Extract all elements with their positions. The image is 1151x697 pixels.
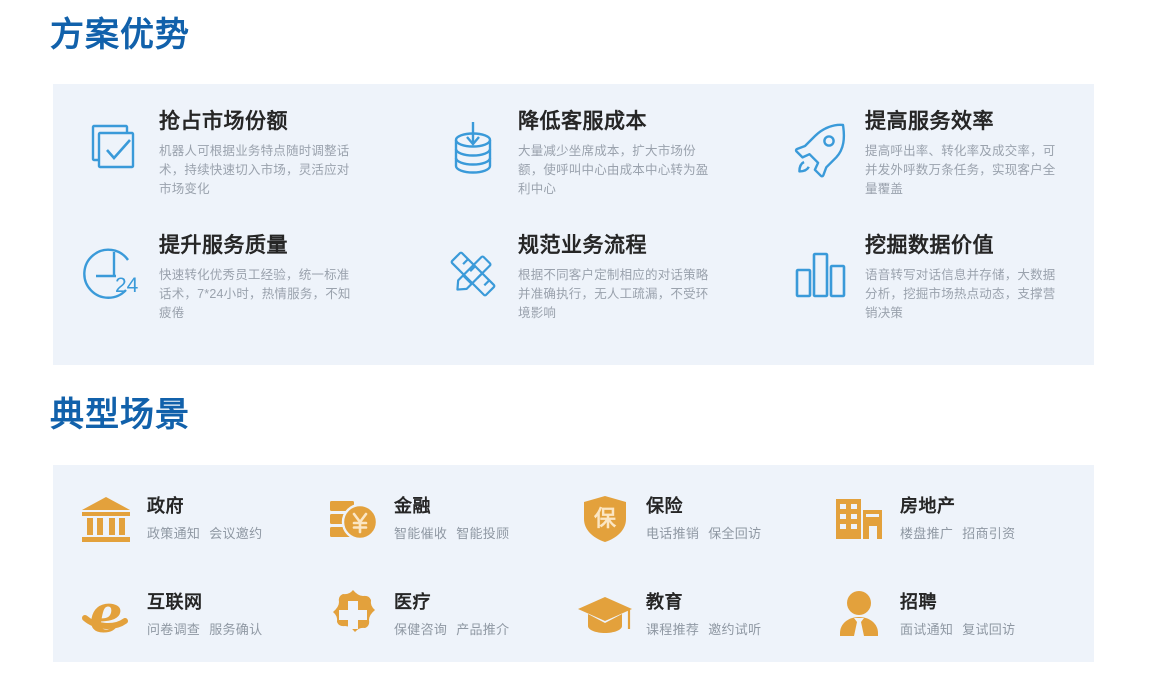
scenario-tag: 电话推销 (646, 526, 699, 541)
money-yen-icon (325, 491, 381, 547)
bank-icon (78, 491, 134, 547)
scenario-item-insurance[interactable]: 保 保险 电话推销保全回访 (577, 491, 761, 547)
scenario-title: 教育 (646, 592, 761, 614)
scenario-tags: 课程推荐邀约试听 (646, 619, 761, 638)
scenario-title: 互联网 (147, 592, 262, 614)
advantage-title: 降低客服成本 (518, 109, 718, 135)
scenario-text: 医疗 保健咨询产品推介 (394, 592, 509, 639)
scenario-tag: 招商引资 (962, 526, 1015, 541)
scenario-item-internet[interactable]: e 互联网 问卷调查服务确认 (78, 587, 262, 643)
scenarios-panel: 政府 政策通知会议邀约 (53, 465, 1094, 662)
medical-cross-icon (325, 587, 381, 643)
scenario-title: 房地产 (900, 496, 1015, 518)
scenario-tags: 楼盘推广招商引资 (900, 523, 1015, 542)
advantage-title: 挖掘数据价值 (865, 233, 1065, 259)
scenario-tags: 智能催收智能投顾 (394, 523, 509, 542)
scenario-tag: 产品推介 (456, 622, 509, 637)
scenario-item-recruitment[interactable]: 招聘 面试通知复试回访 (831, 587, 1015, 643)
clock-24-icon: 24 (77, 237, 151, 311)
internet-e-glyph: e (89, 588, 122, 642)
advantage-card: 提高服务效率 提高呼出率、转化率及成交率，可并发外呼数万条任务，实现客户全量覆盖 (783, 107, 1065, 199)
scenario-tags: 问卷调查服务确认 (147, 619, 262, 638)
scenario-tags: 电话推销保全回访 (646, 523, 761, 542)
advantage-text: 提升服务质量 快速转化优秀员工经验，统一标准话术，7*24小时，热情服务，不知疲… (159, 231, 359, 323)
scenario-tag: 复试回访 (962, 622, 1015, 637)
scenario-tag: 面试通知 (900, 622, 953, 637)
scenario-text: 保险 电话推销保全回访 (646, 496, 761, 543)
rocket-icon (783, 113, 857, 187)
scenario-item-education[interactable]: 教育 课程推荐邀约试听 (577, 587, 761, 643)
scenario-tag: 问卷调查 (147, 622, 200, 637)
buildings-icon (831, 491, 887, 547)
scenario-tag: 保健咨询 (394, 622, 447, 637)
scenario-tags: 面试通知复试回访 (900, 619, 1015, 638)
advantage-card: 抢占市场份额 机器人可根据业务特点随时调整话术，持续快速切入市场，灵活应对市场变… (77, 107, 359, 199)
advantage-card: 挖掘数据价值 语音转写对话信息并存储，大数据分析，挖掘市场热点动态，支撑营销决策 (783, 231, 1065, 323)
scenario-tag: 智能催收 (394, 526, 447, 541)
page-title-advantages: 方案优势 (50, 18, 190, 52)
scenario-tag: 课程推荐 (646, 622, 699, 637)
graduation-cap-icon (577, 587, 633, 643)
shield-bao-icon: 保 (577, 491, 633, 547)
scenario-title: 金融 (394, 496, 509, 518)
page-root: 方案优势 抢占市场份额 机器人可根据业务特点随时调整话术，持续快速切入市场，灵活… (0, 0, 1151, 697)
advantage-text: 抢占市场份额 机器人可根据业务特点随时调整话术，持续快速切入市场，灵活应对市场变… (159, 107, 359, 199)
scenario-text: 政府 政策通知会议邀约 (147, 496, 262, 543)
advantage-desc: 提高呼出率、转化率及成交率，可并发外呼数万条任务，实现客户全量覆盖 (865, 142, 1065, 199)
advantage-desc: 快速转化优秀员工经验，统一标准话术，7*24小时，热情服务，不知疲倦 (159, 266, 359, 323)
advantage-text: 规范业务流程 根据不同客户定制相应的对话策略并准确执行，无人工疏漏，不受环境影响 (518, 231, 718, 323)
bar-chart-icon (783, 237, 857, 311)
scenario-tag: 政策通知 (147, 526, 200, 541)
internet-e-icon: e (78, 587, 134, 643)
scenario-title: 招聘 (900, 592, 1015, 614)
shield-char-label: 保 (593, 507, 617, 532)
advantage-desc: 机器人可根据业务特点随时调整话术，持续快速切入市场，灵活应对市场变化 (159, 142, 359, 199)
scenario-tags: 政策通知会议邀约 (147, 523, 262, 542)
advantage-desc: 语音转写对话信息并存储，大数据分析，挖掘市场热点动态，支撑营销决策 (865, 266, 1065, 323)
page-title-scenarios: 典型场景 (50, 398, 190, 432)
advantage-card: 降低客服成本 大量减少坐席成本，扩大市场份额，使呼叫中心由成本中心转为盈利中心 (436, 107, 718, 199)
scenario-item-medical[interactable]: 医疗 保健咨询产品推介 (325, 587, 509, 643)
advantage-text: 降低客服成本 大量减少坐席成本，扩大市场份额，使呼叫中心由成本中心转为盈利中心 (518, 107, 718, 199)
scenario-title: 保险 (646, 496, 761, 518)
scenario-text: 金融 智能催收智能投顾 (394, 496, 509, 543)
advantage-title: 规范业务流程 (518, 233, 718, 259)
scenario-tags: 保健咨询产品推介 (394, 619, 509, 638)
advantage-desc: 根据不同客户定制相应的对话策略并准确执行，无人工疏漏，不受环境影响 (518, 266, 718, 323)
advantage-card: 24 提升服务质量 快速转化优秀员工经验，统一标准话术，7*24小时，热情服务，… (77, 231, 359, 323)
scenario-text: 房地产 楼盘推广招商引资 (900, 496, 1015, 543)
advantage-text: 提高服务效率 提高呼出率、转化率及成交率，可并发外呼数万条任务，实现客户全量覆盖 (865, 107, 1065, 199)
scenario-tag: 服务确认 (209, 622, 262, 637)
scenario-item-finance[interactable]: 金融 智能催收智能投顾 (325, 491, 509, 547)
scenario-title: 政府 (147, 496, 262, 518)
scenario-tag: 邀约试听 (708, 622, 761, 637)
scenario-text: 互联网 问卷调查服务确认 (147, 592, 262, 639)
advantage-title: 提高服务效率 (865, 109, 1065, 135)
advantage-title: 抢占市场份额 (159, 109, 359, 135)
documents-check-icon (77, 113, 151, 187)
clock-24-label: 24 (115, 274, 139, 297)
scenario-item-government[interactable]: 政府 政策通知会议邀约 (78, 491, 262, 547)
advantage-desc: 大量减少坐席成本，扩大市场份额，使呼叫中心由成本中心转为盈利中心 (518, 142, 718, 199)
scenario-tag: 智能投顾 (456, 526, 509, 541)
scenario-text: 教育 课程推荐邀约试听 (646, 592, 761, 639)
scenario-tag: 楼盘推广 (900, 526, 953, 541)
scenario-text: 招聘 面试通知复试回访 (900, 592, 1015, 639)
ruler-pencil-icon (436, 237, 510, 311)
scenario-item-realestate[interactable]: 房地产 楼盘推广招商引资 (831, 491, 1015, 547)
advantages-panel: 抢占市场份额 机器人可根据业务特点随时调整话术，持续快速切入市场，灵活应对市场变… (53, 84, 1094, 365)
advantage-text: 挖掘数据价值 语音转写对话信息并存储，大数据分析，挖掘市场热点动态，支撑营销决策 (865, 231, 1065, 323)
advantage-card: 规范业务流程 根据不同客户定制相应的对话策略并准确执行，无人工疏漏，不受环境影响 (436, 231, 718, 323)
scenario-tag: 保全回访 (708, 526, 761, 541)
scenario-title: 医疗 (394, 592, 509, 614)
advantage-title: 提升服务质量 (159, 233, 359, 259)
database-down-arrow-icon (436, 113, 510, 187)
scenario-tag: 会议邀约 (209, 526, 262, 541)
person-tie-icon (831, 587, 887, 643)
